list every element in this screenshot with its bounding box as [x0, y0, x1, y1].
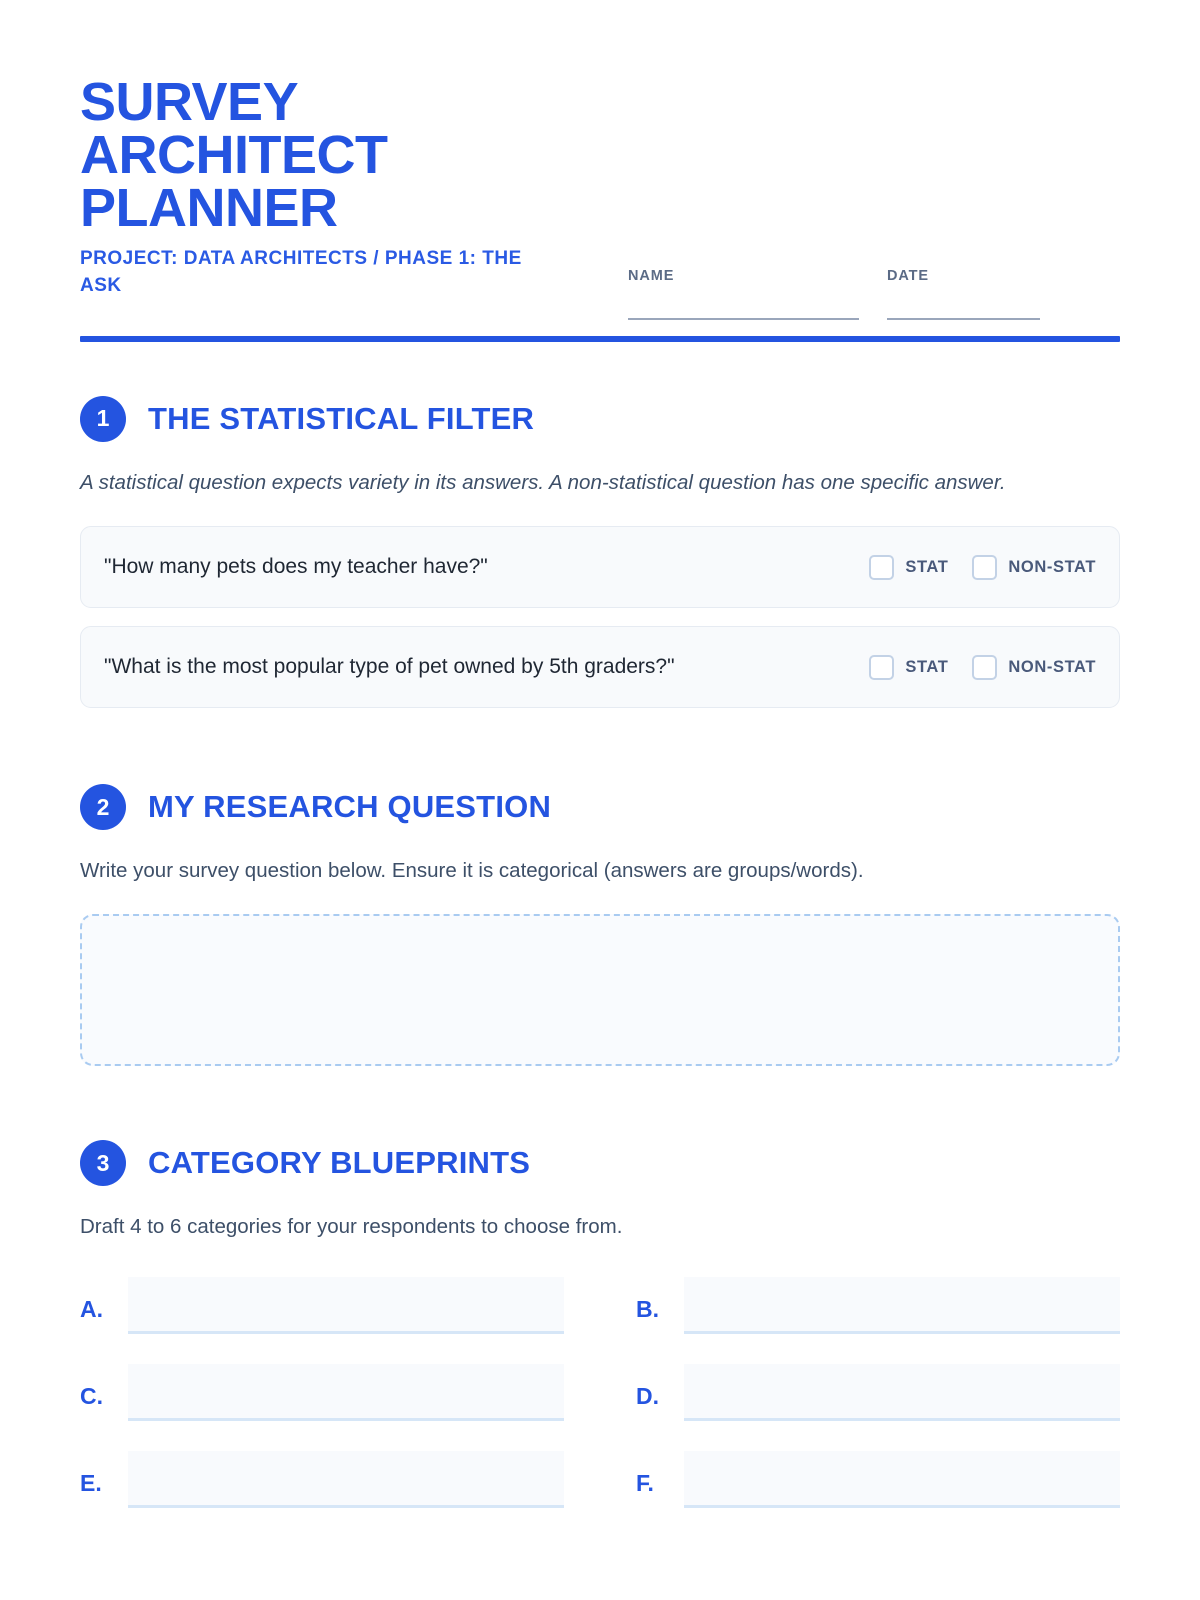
section-3-title: CATEGORY BLUEPRINTS	[148, 1145, 530, 1181]
category-letter: B.	[636, 1298, 670, 1334]
choice-label-stat: STAT	[905, 558, 948, 577]
choice-stat[interactable]: STAT	[869, 655, 948, 680]
question-list: "How many pets does my teacher have?" ST…	[80, 526, 1120, 708]
category-input[interactable]	[684, 1277, 1120, 1334]
category-letter: E.	[80, 1472, 114, 1508]
category-item[interactable]: D.	[636, 1364, 1120, 1421]
section-number-badge: 2	[80, 784, 126, 830]
worksheet-page: SURVEY ARCHITECT PLANNER PROJECT: DATA A…	[0, 0, 1200, 1600]
question-row[interactable]: "How many pets does my teacher have?" ST…	[80, 526, 1120, 608]
title-block: SURVEY ARCHITECT PLANNER PROJECT: DATA A…	[80, 76, 540, 300]
date-field[interactable]: DATE	[887, 268, 1040, 320]
section-2-header: 2 MY RESEARCH QUESTION	[80, 784, 1120, 830]
category-input[interactable]	[128, 1277, 564, 1334]
choice-non-stat[interactable]: NON-STAT	[972, 555, 1096, 580]
section-1-header: 1 THE STATISTICAL FILTER	[80, 396, 1120, 442]
question-row[interactable]: "What is the most popular type of pet ow…	[80, 626, 1120, 708]
header-divider	[80, 336, 1120, 342]
choice-non-stat[interactable]: NON-STAT	[972, 655, 1096, 680]
name-input-line[interactable]	[628, 318, 859, 320]
choice-label-non-stat: NON-STAT	[1008, 558, 1096, 577]
section-1-title: THE STATISTICAL FILTER	[148, 401, 534, 437]
choice-stat[interactable]: STAT	[869, 555, 948, 580]
category-item[interactable]: B.	[636, 1277, 1120, 1334]
category-letter: F.	[636, 1472, 670, 1508]
category-letter: C.	[80, 1385, 114, 1421]
choice-label-stat: STAT	[905, 658, 948, 677]
document-header: SURVEY ARCHITECT PLANNER PROJECT: DATA A…	[80, 0, 1120, 342]
name-label: NAME	[628, 268, 859, 284]
section-2-title: MY RESEARCH QUESTION	[148, 789, 551, 825]
section-statistical-filter: 1 THE STATISTICAL FILTER A statistical q…	[80, 396, 1120, 709]
name-field[interactable]: NAME	[628, 268, 859, 320]
category-input[interactable]	[684, 1451, 1120, 1508]
category-item[interactable]: C.	[80, 1364, 564, 1421]
category-input[interactable]	[128, 1451, 564, 1508]
meta-fields: NAME DATE	[628, 268, 1040, 320]
research-question-input[interactable]	[80, 914, 1120, 1066]
choice-label-non-stat: NON-STAT	[1008, 658, 1096, 677]
category-letter: A.	[80, 1298, 114, 1334]
checkbox-icon[interactable]	[972, 555, 997, 580]
category-item[interactable]: A.	[80, 1277, 564, 1334]
section-number-badge: 1	[80, 396, 126, 442]
question-text: "What is the most popular type of pet ow…	[104, 655, 675, 679]
choice-group: STAT NON-STAT	[869, 655, 1096, 680]
section-3-description: Draft 4 to 6 categories for your respond…	[80, 1211, 1040, 1243]
choice-group: STAT NON-STAT	[869, 555, 1096, 580]
section-2-description: Write your survey question below. Ensure…	[80, 855, 1040, 887]
section-research-question: 2 MY RESEARCH QUESTION Write your survey…	[80, 784, 1120, 1066]
category-input[interactable]	[684, 1364, 1120, 1421]
page-title: SURVEY ARCHITECT PLANNER	[80, 76, 540, 235]
category-item[interactable]: F.	[636, 1451, 1120, 1508]
category-item[interactable]: E.	[80, 1451, 564, 1508]
category-input[interactable]	[128, 1364, 564, 1421]
section-3-header: 3 CATEGORY BLUEPRINTS	[80, 1140, 1120, 1186]
section-category-blueprints: 3 CATEGORY BLUEPRINTS Draft 4 to 6 categ…	[80, 1140, 1120, 1508]
page-subtitle: PROJECT: DATA ARCHITECTS / PHASE 1: THE …	[80, 246, 540, 300]
section-1-description: A statistical question expects variety i…	[80, 467, 1040, 499]
section-number-badge: 3	[80, 1140, 126, 1186]
question-text: "How many pets does my teacher have?"	[104, 555, 488, 579]
date-input-line[interactable]	[887, 318, 1040, 320]
date-label: DATE	[887, 268, 1040, 284]
category-letter: D.	[636, 1385, 670, 1421]
category-grid: A. B. C. D. E. F.	[80, 1277, 1120, 1508]
checkbox-icon[interactable]	[869, 555, 894, 580]
checkbox-icon[interactable]	[972, 655, 997, 680]
checkbox-icon[interactable]	[869, 655, 894, 680]
